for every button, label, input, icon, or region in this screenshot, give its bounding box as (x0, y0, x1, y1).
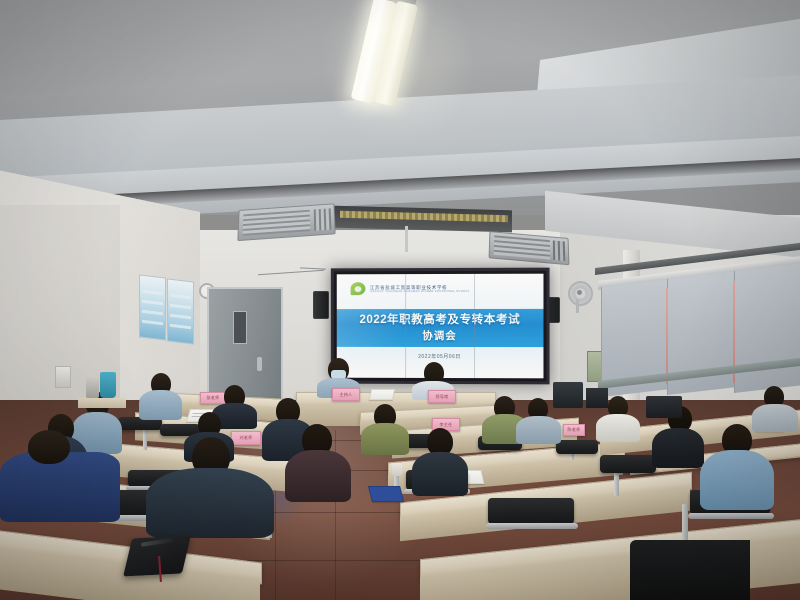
name-card-text: 领导席 (436, 394, 449, 400)
bag (630, 540, 750, 600)
name-card-text: 刘老师 (240, 435, 253, 441)
chair (600, 455, 656, 473)
document (369, 389, 395, 400)
slide-surface: 江苏省盐城工贸高等职业技术学校 JIANGSU YANCHENG GONGMAO… (337, 274, 544, 379)
paper-cup (392, 463, 402, 476)
ceiling-pipe (405, 226, 408, 252)
water-kettle (100, 372, 116, 398)
roller-blind[interactable] (734, 263, 800, 393)
equipment-monitor (553, 382, 583, 408)
name-card: 刘老师 (231, 431, 261, 445)
attendee-body (700, 450, 774, 510)
attendee-body (285, 450, 351, 502)
side-table (78, 398, 126, 408)
name-card-text: 张老师 (207, 395, 220, 401)
attendee-body-foreground (0, 452, 120, 522)
name-card: 陈老师 (563, 424, 585, 436)
chair-frame (688, 513, 774, 519)
attendee-body (516, 416, 561, 444)
wall-poster (139, 274, 166, 340)
screen-glare (337, 274, 544, 379)
fan-mount (576, 299, 579, 313)
fan-icon (568, 281, 593, 306)
chair (488, 498, 574, 524)
attendee-body (412, 452, 468, 496)
speaker-icon (313, 291, 329, 319)
desk-leg (143, 430, 147, 450)
classroom-meeting-photo: 江苏省盐城工贸高等职业技术学校 JIANGSU YANCHENG GONGMAO… (0, 0, 800, 600)
name-card: 领导席 (428, 390, 456, 403)
equipment-monitor (646, 396, 682, 418)
chair-frame (486, 523, 578, 529)
attendee-body (139, 390, 182, 420)
name-card-text: 主持人 (340, 392, 353, 398)
name-card-text: 陈老师 (568, 427, 581, 433)
folder (368, 486, 404, 502)
name-card: 张老师 (200, 392, 226, 404)
name-card: 主持人 (332, 388, 360, 401)
chair (556, 440, 598, 454)
blind-cord[interactable] (666, 288, 668, 384)
thermos (86, 376, 99, 398)
attendee-body-foreground (146, 468, 274, 538)
attendee-head-foreground (28, 430, 70, 464)
desk-leg (682, 504, 688, 540)
wall-poster (167, 278, 194, 344)
wall-notice (55, 366, 71, 388)
attendee-body (361, 423, 409, 455)
attendee-body (596, 414, 640, 442)
attendee-body (652, 428, 704, 468)
equipment-box (586, 388, 608, 408)
name-card-text: 李主任 (440, 422, 453, 428)
desk-leg (614, 470, 619, 496)
attendee-body (752, 404, 798, 432)
